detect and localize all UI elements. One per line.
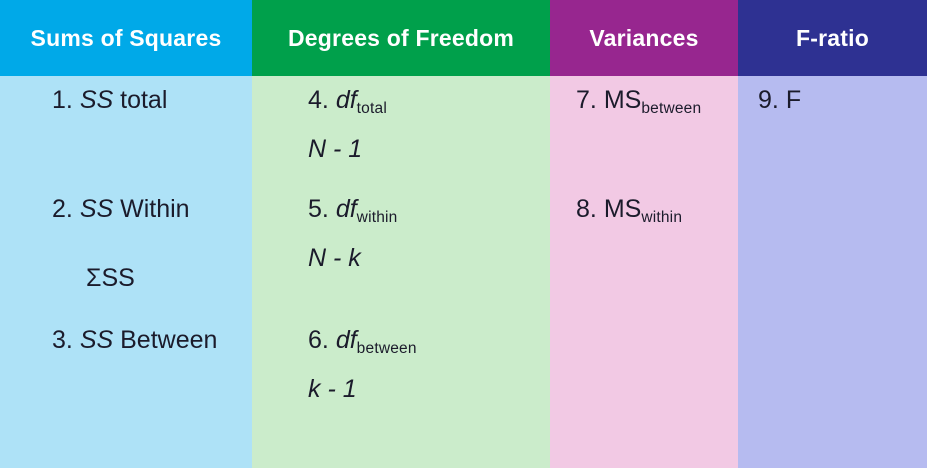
formula-rest: - bbox=[326, 244, 348, 272]
column-body-variances: 7. MSbetween 8. MSwithin bbox=[550, 76, 738, 468]
column-header-label: Variances bbox=[589, 25, 698, 52]
cell-df-total: 4. dftotal N - 1 bbox=[252, 84, 550, 167]
cell-line-primary: 2. SS Within bbox=[52, 193, 252, 227]
cell-line-primary: 6. dfbetween bbox=[308, 324, 550, 358]
cell-line-formula: N - 1 bbox=[308, 133, 550, 167]
cell-f-value: 9. F bbox=[738, 84, 927, 118]
column-header-sums-of-squares: Sums of Squares bbox=[0, 0, 252, 76]
symbol-subscript: within bbox=[357, 209, 398, 226]
symbol-ss: SS bbox=[80, 195, 113, 223]
symbol-subscript: between bbox=[641, 100, 701, 117]
cell-line-primary: 7. MSbetween bbox=[576, 84, 738, 118]
column-header-label: F-ratio bbox=[796, 25, 869, 52]
item-number: 6. bbox=[308, 326, 329, 354]
cell-ms-between: 7. MSbetween bbox=[550, 84, 738, 118]
anova-summary-table: Sums of Squares 1. SS total 2. SS Within… bbox=[0, 0, 927, 468]
symbol-f: F bbox=[786, 86, 801, 114]
column-body-sums-of-squares: 1. SS total 2. SS Within ΣSS 3. SS Betwe… bbox=[0, 76, 252, 468]
item-number: 8. bbox=[576, 195, 597, 223]
column-sums-of-squares: Sums of Squares 1. SS total 2. SS Within… bbox=[0, 0, 252, 468]
item-number: 5. bbox=[308, 195, 329, 223]
cell-ms-within: 8. MSwithin bbox=[550, 193, 738, 227]
symbol-df: df bbox=[336, 326, 357, 354]
cell-ss-within: 2. SS Within bbox=[0, 193, 252, 227]
formula-rest: - 1 bbox=[326, 135, 362, 163]
formula-variable-2: k bbox=[348, 244, 361, 272]
symbol-ms: MS bbox=[604, 195, 642, 223]
column-header-label: Sums of Squares bbox=[31, 25, 222, 52]
item-number: 1. bbox=[52, 86, 73, 114]
item-number: 7. bbox=[576, 86, 597, 114]
symbol-df: df bbox=[336, 86, 357, 114]
cell-line-primary: 8. MSwithin bbox=[576, 193, 738, 227]
formula-variable: N bbox=[308, 244, 326, 272]
formula-variable: N bbox=[308, 135, 326, 163]
symbol-ss: SS bbox=[80, 326, 113, 354]
symbol-ss: SS bbox=[80, 86, 113, 114]
symbol-df: df bbox=[336, 195, 357, 223]
symbol-suffix: Within bbox=[113, 195, 189, 223]
symbol-subscript: within bbox=[641, 209, 682, 226]
column-header-degrees-of-freedom: Degrees of Freedom bbox=[252, 0, 550, 76]
cell-df-between: 6. dfbetween k - 1 bbox=[252, 324, 550, 407]
symbol-suffix: Between bbox=[113, 326, 217, 354]
cell-line-primary: 3. SS Between bbox=[52, 324, 252, 358]
column-body-degrees-of-freedom: 4. dftotal N - 1 5. dfwithin N - k 6. df… bbox=[252, 76, 550, 468]
column-header-label: Degrees of Freedom bbox=[288, 25, 514, 52]
cell-df-within: 5. dfwithin N - k bbox=[252, 193, 550, 276]
cell-line-primary: 1. SS total bbox=[52, 84, 252, 118]
symbol-subscript: between bbox=[357, 340, 417, 357]
item-number: 4. bbox=[308, 86, 329, 114]
cell-ss-between: 3. SS Between bbox=[0, 324, 252, 358]
column-degrees-of-freedom: Degrees of Freedom 4. dftotal N - 1 5. d… bbox=[252, 0, 550, 468]
cell-ss-within-formula: ΣSS bbox=[0, 262, 252, 296]
cell-line-primary: 5. dfwithin bbox=[308, 193, 550, 227]
cell-line-formula: N - k bbox=[308, 242, 550, 276]
cell-line-primary: 4. dftotal bbox=[308, 84, 550, 118]
cell-line-primary: 9. F bbox=[758, 84, 927, 118]
cell-line-formula: k - 1 bbox=[308, 373, 550, 407]
symbol-suffix: total bbox=[113, 86, 167, 114]
item-number: 9. bbox=[758, 86, 779, 114]
formula-variable: k bbox=[308, 375, 321, 403]
symbol-subscript: total bbox=[357, 100, 387, 117]
column-header-variances: Variances bbox=[550, 0, 738, 76]
column-variances: Variances 7. MSbetween 8. MSwithin bbox=[550, 0, 738, 468]
column-f-ratio: F-ratio 9. F bbox=[738, 0, 927, 468]
item-number: 3. bbox=[52, 326, 73, 354]
formula-sigma-ss: ΣSS bbox=[86, 262, 252, 296]
column-header-f-ratio: F-ratio bbox=[738, 0, 927, 76]
cell-ss-total: 1. SS total bbox=[0, 84, 252, 118]
item-number: 2. bbox=[52, 195, 73, 223]
symbol-ms: MS bbox=[604, 86, 642, 114]
column-body-f-ratio: 9. F bbox=[738, 76, 927, 468]
formula-rest: - 1 bbox=[321, 375, 357, 403]
